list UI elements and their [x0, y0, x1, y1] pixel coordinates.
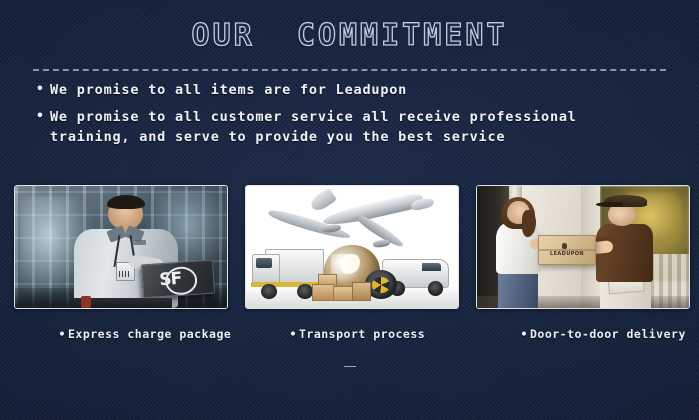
bullet-text: We promise to all customer service all r… — [50, 107, 676, 147]
photo2-truck-window — [256, 258, 273, 268]
photo3-woman-jeans — [498, 271, 538, 308]
caption-transport-process: •Transport process — [245, 313, 459, 355]
photo-row: SF — [14, 185, 690, 309]
photo1-courier-hair — [107, 195, 145, 208]
photo-door-to-door-delivery: LEADUPON — [476, 185, 690, 309]
caption-text: Door-to-door delivery — [530, 327, 686, 341]
caption-bullet-icon: • — [290, 327, 297, 341]
commitment-bullet-list: • We promise to all items are for Leadup… — [36, 80, 676, 154]
caption-text: Express charge package — [68, 327, 231, 341]
photo2-van-wheel-rear — [428, 281, 443, 296]
photo2-van-window — [422, 263, 441, 272]
photo1-foreground-object — [81, 296, 92, 308]
list-item: • We promise to all customer service all… — [36, 107, 676, 147]
list-item: • We promise to all items are for Leadup… — [36, 80, 676, 100]
photo2-carton — [312, 284, 335, 302]
caption-bullet-icon: • — [59, 327, 66, 341]
photo2-truck-wheel-rear — [297, 284, 313, 300]
caption-bullet-icon: • — [521, 327, 528, 341]
photo3-parcel-logo-mark-icon — [562, 243, 568, 249]
photo2-truck-wheel-front — [261, 284, 277, 300]
photo-transport-process — [245, 185, 459, 309]
photo2-carton — [333, 286, 354, 301]
caption-row: •Express charge package •Transport proce… — [14, 313, 690, 355]
photo3-parcel-logo-text: LEADUPON — [546, 250, 588, 257]
caption-express-charge-package: •Express charge package — [14, 313, 228, 355]
divider — [33, 69, 666, 71]
tagline — [0, 352, 699, 371]
photo1-parcel: SF — [141, 259, 215, 298]
bullet-marker-icon: • — [36, 80, 50, 100]
photo1-shirt-logo — [132, 240, 147, 245]
photo3-parcel: LEADUPON — [538, 235, 595, 265]
photo-express-charge-package: SF — [14, 185, 228, 309]
caption-text: Transport process — [299, 327, 425, 341]
slide-canvas: OUR COMMITMENT • We promise to all items… — [0, 0, 699, 420]
tagline-text — [344, 363, 356, 367]
page-title: OUR COMMITMENT — [0, 18, 699, 54]
bullet-marker-icon: • — [36, 107, 50, 127]
photo3-courier-cap-brim — [596, 202, 624, 207]
photo2-carton — [352, 282, 371, 301]
caption-door-to-door-delivery: •Door-to-door delivery — [476, 313, 690, 355]
bullet-text: We promise to all items are for Leadupon — [50, 80, 676, 100]
photo1-parcel-logo-ring-icon — [165, 265, 199, 295]
